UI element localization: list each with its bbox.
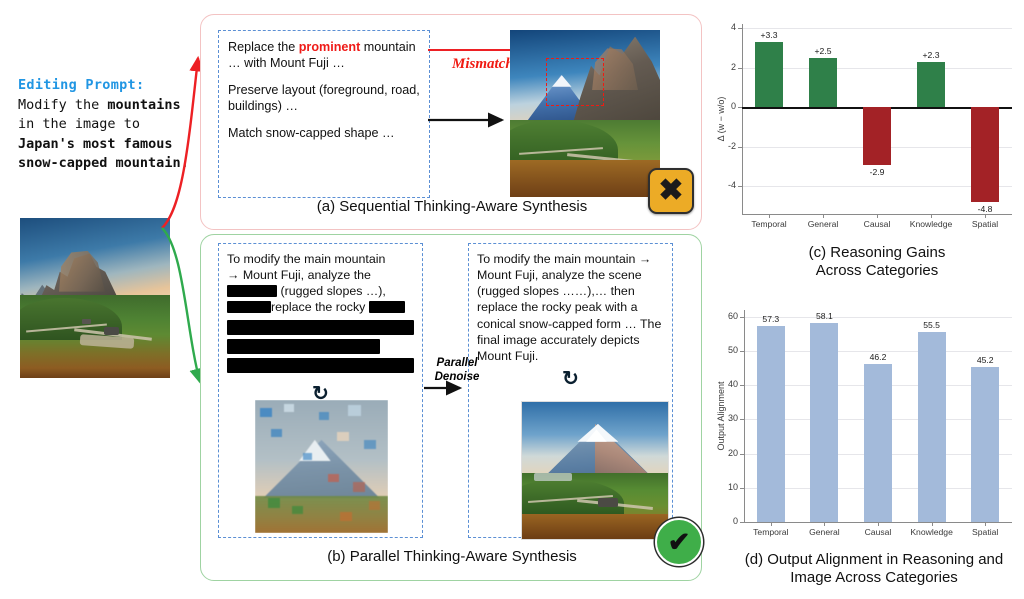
chart-c-caption-line2: Across Categories: [742, 262, 1012, 280]
bar-value-label: -2.9: [855, 167, 899, 177]
x-tick-mark: [985, 522, 986, 526]
sequential-step-3: Match snow-capped shape …: [228, 125, 420, 141]
y-tick-label: 60: [710, 311, 738, 321]
parallel-denoise-label: Parallel Denoise: [428, 357, 486, 385]
redaction-bar: [227, 320, 414, 335]
bar-value-label: -4.8: [963, 204, 1007, 214]
step1-pre: Replace the: [228, 40, 299, 54]
bar: [918, 332, 946, 522]
x-tick-label: Temporal: [738, 219, 800, 229]
x-tick-label: Spatial: [954, 219, 1016, 229]
x-tick-label: Spatial: [954, 527, 1016, 537]
x-tick-mark: [824, 522, 825, 526]
prompt-seg-5: Japan's: [18, 136, 75, 152]
bar: [917, 62, 945, 108]
y-axis-spine: [744, 310, 745, 522]
bar-value-label: +3.3: [747, 30, 791, 40]
y-axis-spine: [742, 24, 743, 214]
x-tick-label: Knowledge: [900, 219, 962, 229]
parallel-left-line-2: → Mount Fuji, analyze the: [227, 267, 414, 283]
sequential-step-1: Replace the prominent mountain … with Mo…: [228, 39, 420, 71]
source-image: [20, 218, 170, 378]
parallel-left-line-4: replace the rocky: [227, 299, 414, 315]
y-tick-label: 4: [708, 22, 736, 32]
redaction-bar: [227, 301, 271, 313]
chart-c-caption-line1: (c) Reasoning Gains: [742, 244, 1012, 262]
bar: [971, 367, 999, 522]
bar-value-label: +2.5: [801, 46, 845, 56]
bar: [809, 58, 837, 107]
x-tick-mark: [985, 214, 986, 218]
sequential-output-image: [510, 30, 660, 197]
y-tick-label: 0: [710, 516, 738, 526]
bar: [755, 42, 783, 107]
bar: [757, 326, 785, 522]
arrow-steps-to-output-a: [428, 110, 514, 130]
y-tick-label: 10: [710, 482, 738, 492]
bar-value-label: 46.2: [856, 352, 900, 362]
panel-a-caption: (a) Sequential Thinking-Aware Synthesis: [232, 198, 672, 215]
prompt-seg-3: in the: [18, 116, 67, 132]
mismatch-highlight-rect: [546, 58, 604, 106]
step1-emphasis: prominent: [299, 40, 361, 54]
noisy-latent-image: [255, 400, 388, 533]
bar: [971, 107, 999, 202]
bar: [810, 323, 838, 522]
redaction-bar: [227, 285, 277, 297]
prompt-seg-7: snow-capped: [18, 155, 107, 171]
chart-c-caption: (c) Reasoning Gains Across Categories: [742, 244, 1012, 279]
prompt-seg-4: image to: [75, 116, 140, 132]
x-tick-label: Temporal: [740, 527, 802, 537]
redaction-bar: [369, 301, 405, 313]
chart-d-caption-line1: (d) Output Alignment in Reasoning and: [724, 551, 1024, 569]
y-tick-label: 50: [710, 345, 738, 355]
y-tick-label: -2: [708, 141, 736, 151]
parallel-left-line-1: To modify the main mountain: [227, 251, 414, 267]
panel-b-caption: (b) Parallel Thinking-Aware Synthesis: [232, 548, 672, 565]
sequential-steps-box: Replace the prominent mountain … with Mo…: [218, 30, 430, 198]
redaction-bar: [227, 358, 414, 373]
y-tick-label: 20: [710, 448, 738, 458]
chart-output-alignment: Output Alignment010203040506057.3Tempora…: [712, 296, 1020, 548]
redaction-bar: [227, 339, 380, 354]
x-tick-mark: [823, 214, 824, 218]
arrow-parallel-denoise: [424, 382, 476, 400]
gridline: [742, 28, 1012, 29]
x-tick-label: Causal: [847, 527, 909, 537]
y-tick-label: 40: [710, 379, 738, 389]
bar: [864, 364, 892, 522]
y-tick-label: 2: [708, 62, 736, 72]
x-tick-mark: [877, 214, 878, 218]
parallel-right-text: To modify the main mountain → Mount Fuji…: [477, 251, 664, 364]
parallel-left-frag-4: replace the rocky: [271, 300, 365, 314]
bar-value-label: 45.2: [963, 355, 1007, 365]
y-tick-label: -4: [708, 180, 736, 190]
bar-value-label: 55.5: [910, 320, 954, 330]
y-tick-label: 0: [708, 101, 736, 111]
bar-value-label: 58.1: [802, 311, 846, 321]
chart-reasoning-gains: Δ (w − w/o)420-2-4+3.3Temporal+2.5Genera…: [712, 12, 1020, 240]
bar: [863, 107, 891, 164]
parallel-left-frag-3: (rugged slopes …),: [280, 284, 385, 298]
x-tick-mark: [878, 522, 879, 526]
refresh-cycle-icon: ↻: [562, 368, 579, 390]
x-tick-mark: [769, 214, 770, 218]
x-tick-label: General: [792, 219, 854, 229]
y-tick-label: 30: [710, 413, 738, 423]
x-tick-label: General: [794, 527, 856, 537]
figure-canvas: Editing Prompt: Modify the mountains in …: [0, 0, 1024, 599]
x-tick-mark: [931, 214, 932, 218]
bar-value-label: 57.3: [749, 314, 793, 324]
chart-d-caption: (d) Output Alignment in Reasoning and Im…: [724, 551, 1024, 586]
x-tick-mark: [932, 522, 933, 526]
bar-value-label: +2.3: [909, 50, 953, 60]
parallel-denoise-line1: Parallel: [428, 357, 486, 371]
parallel-left-line-3: (rugged slopes …),: [227, 283, 414, 299]
x-tick-label: Causal: [846, 219, 908, 229]
chart-d-caption-line2: Image Across Categories: [724, 569, 1024, 587]
prompt-seg-1: Modify the: [18, 97, 99, 113]
sequential-step-2: Preserve layout (foreground, road, build…: [228, 82, 420, 114]
parallel-output-image: [521, 401, 669, 540]
x-tick-label: Knowledge: [901, 527, 963, 537]
x-tick-mark: [771, 522, 772, 526]
